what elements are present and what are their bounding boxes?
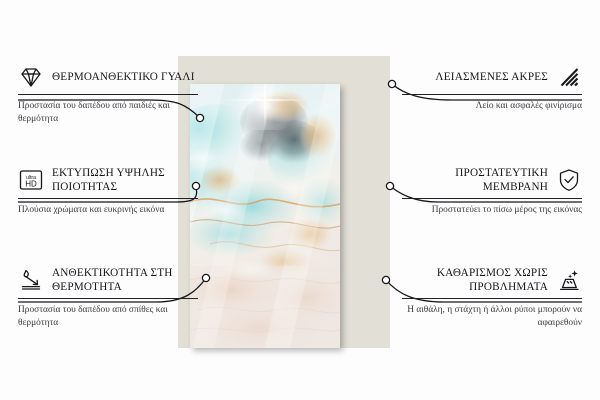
feature-high-quality-print: ultra HD ΕΚΤΥΠΩΣΗ ΥΨΗΛΗΣ ΠΟΙΟΤΗΤΑΣ Πλούσ…	[18, 166, 198, 217]
diamond-icon	[18, 64, 44, 90]
feature-description: Προστασία του δαπέδου από σπίθες και θερ…	[18, 304, 198, 331]
divider	[402, 198, 582, 199]
svg-text:HD: HD	[25, 179, 37, 188]
glass-glare-highlight	[230, 84, 300, 130]
shield-check-icon	[556, 167, 582, 193]
sponge-sparkle-icon	[556, 267, 582, 293]
feature-description: Προστατεύει το πίσω μέρος της εικόνας	[402, 204, 582, 217]
feature-heat-resistant-glass: ΘΕΡΜΟΑΝΘΕΚΤΙΚΟ ΓΥΑΛΙ Προστασία του δαπέδ…	[18, 64, 198, 127]
feature-protective-membrane: ΠΡΟΣΤΑΤΕΥΤΙΚΗ ΜΕΜΒΡΑΝΗ Προστατεύει το πί…	[402, 166, 582, 217]
feature-easy-cleaning: ΚΑΘΑΡΙΣΜΟΣ ΧΩΡΙΣ ΠΡΟΒΛΗΜΑΤΑ Η αιθάλη, η …	[402, 266, 582, 331]
feature-title: ΕΚΤΥΠΩΣΗ ΥΨΗΛΗΣ ΠΟΙΟΤΗΤΑΣ	[52, 166, 198, 194]
feature-heat-durability: ΑΝΘΕΚΤΙΚΟΤΗΤΑ ΣΤΗ ΘΕΡΜΟΤΗΤΑ Προστασία το…	[18, 266, 198, 331]
flame-deflect-icon	[18, 267, 44, 293]
feature-title: ΚΑΘΑΡΙΣΜΟΣ ΧΩΡΙΣ ΠΡΟΒΛΗΜΑΤΑ	[402, 266, 548, 294]
feature-polished-edges: ΛΕΙΑΣΜΕΝΕΣ ΑΚΡΕΣ Λείο και ασφαλές φινίρι…	[402, 64, 582, 113]
feature-description: Προστασία του δαπέδου από παιδιές και θε…	[18, 100, 198, 127]
diagonal-stripes-icon	[556, 64, 582, 90]
ultra-hd-icon: ultra HD	[18, 167, 44, 193]
divider	[18, 198, 198, 199]
divider	[402, 94, 582, 95]
feature-description: Η αιθάλη, η στάχτη ή άλλοι ρύποι μπορούν…	[402, 304, 582, 331]
divider	[18, 298, 198, 299]
product-glass-panel	[190, 84, 340, 348]
infographic-canvas: ΘΕΡΜΟΑΝΘΕΚΤΙΚΟ ΓΥΑΛΙ Προστασία του δαπέδ…	[0, 0, 600, 400]
feature-title: ΑΝΘΕΚΤΙΚΟΤΗΤΑ ΣΤΗ ΘΕΡΜΟΤΗΤΑ	[52, 266, 198, 294]
feature-title: ΘΕΡΜΟΑΝΘΕΚΤΙΚΟ ΓΥΑΛΙ	[52, 70, 195, 84]
divider	[402, 298, 582, 299]
feature-description: Λείο και ασφαλές φινίρισμα	[402, 100, 582, 113]
divider	[18, 94, 198, 95]
feature-description: Πλούσια χρώματα και ευκρινής εικόνα	[18, 204, 198, 217]
feature-title: ΛΕΙΑΣΜΕΝΕΣ ΑΚΡΕΣ	[435, 70, 548, 84]
feature-title: ΠΡΟΣΤΑΤΕΥΤΙΚΗ ΜΕΜΒΡΑΝΗ	[402, 166, 548, 194]
